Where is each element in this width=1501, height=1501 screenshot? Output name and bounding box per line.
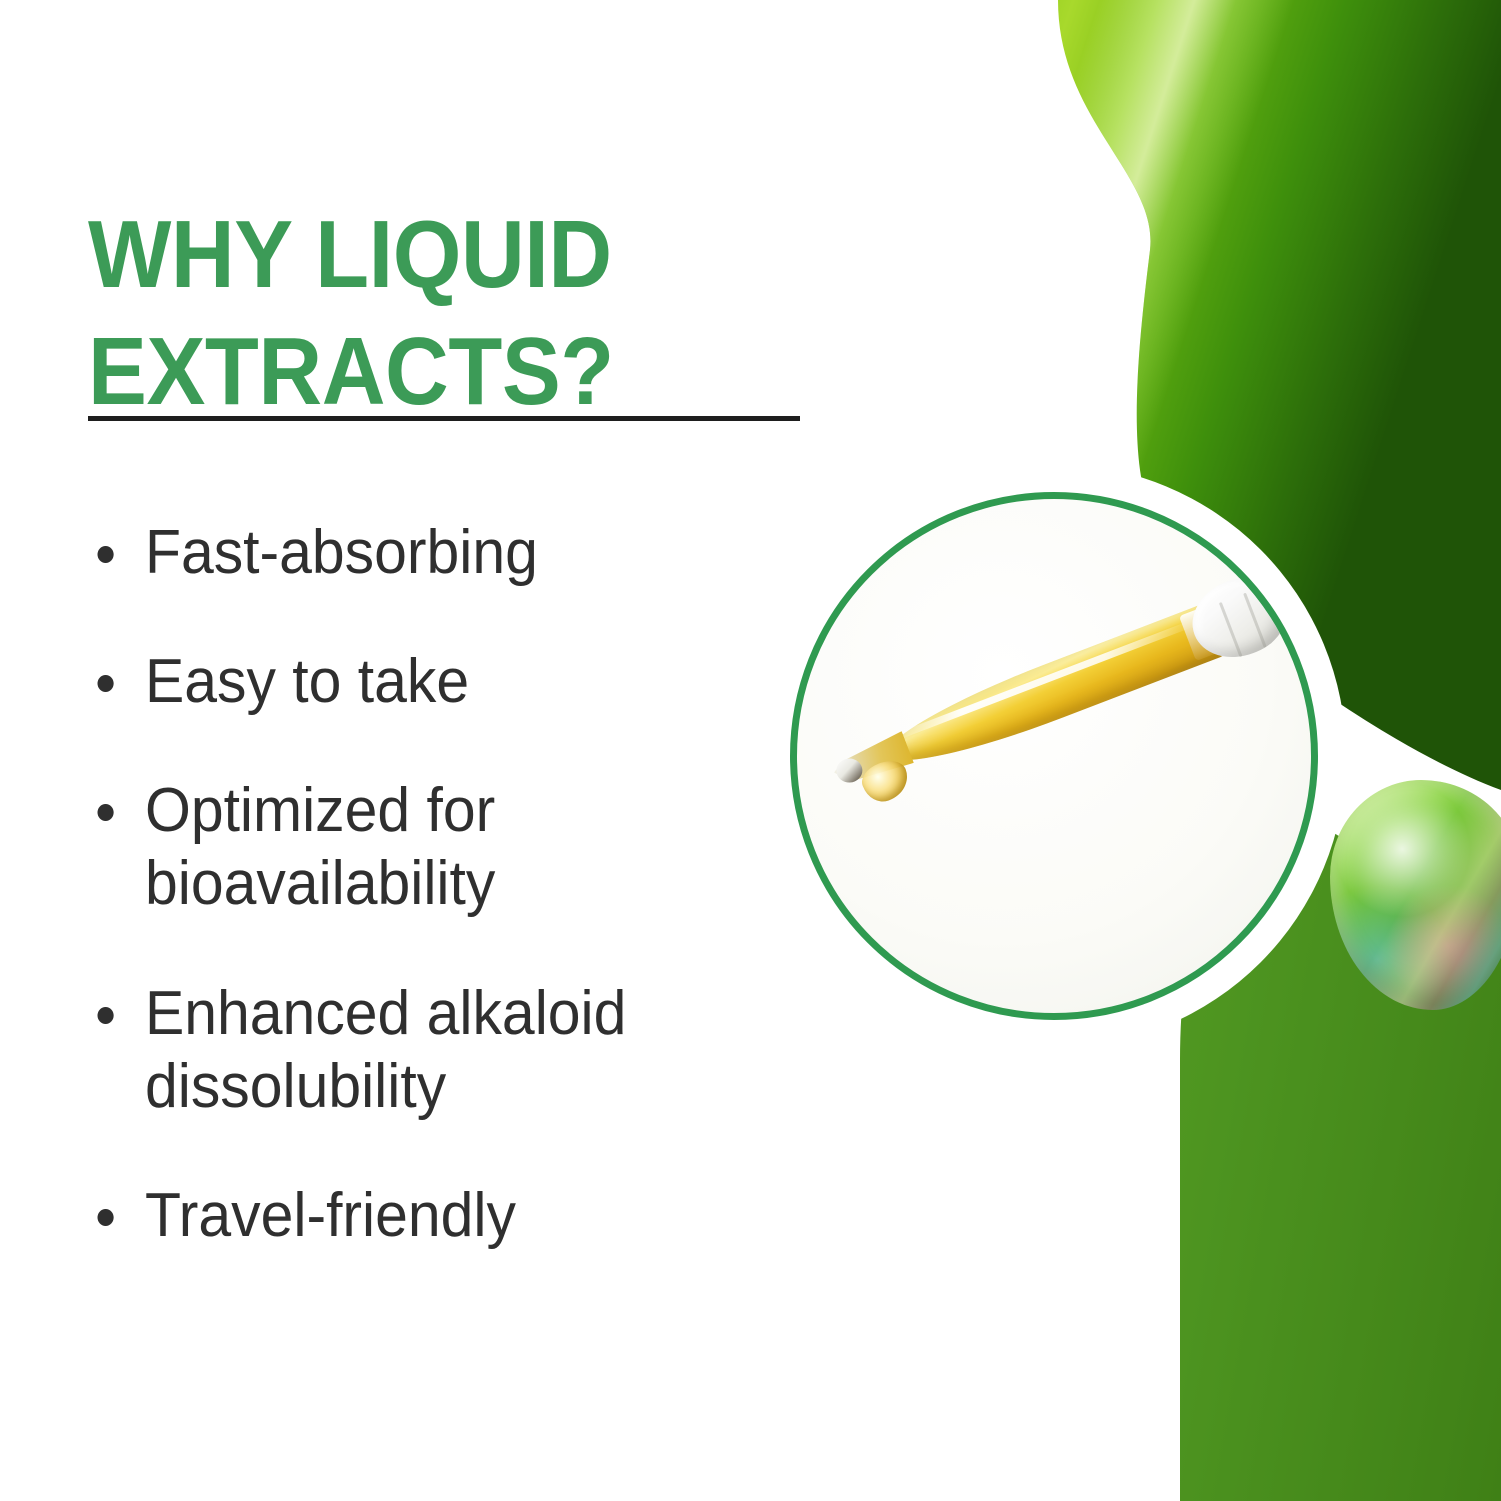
list-item: Easy to take [88, 645, 810, 718]
dropper-circle-inset [790, 492, 1318, 1020]
bullet-dot-icon [98, 1209, 114, 1226]
bullet-dot-icon [98, 1007, 114, 1024]
bullet-dot-icon [98, 804, 114, 821]
list-item: Travel-friendly [88, 1179, 810, 1252]
list-item-label: Fast-absorbing [145, 518, 538, 587]
infographic-canvas: WHY LIQUID EXTRACTS? Fast-absorbing Easy… [0, 0, 1501, 1501]
page-title: WHY LIQUID EXTRACTS? [88, 196, 787, 430]
bullet-dot-icon [98, 675, 114, 692]
title-divider [88, 416, 800, 421]
list-item-label: Travel-friendly [145, 1181, 516, 1250]
bullet-dot-icon [98, 546, 114, 563]
list-item-label: Easy to take [145, 647, 469, 716]
list-item-label: Enhanced alkaloid dissolubility [145, 979, 626, 1121]
circle-plate [790, 492, 1318, 1020]
glass-dropper-icon [824, 599, 1229, 804]
benefits-list: Fast-absorbing Easy to take Optimized fo… [88, 516, 848, 1252]
list-item-label: Optimized for bioavailability [145, 776, 495, 918]
list-item: Enhanced alkaloid dissolubility [88, 977, 810, 1123]
list-item: Fast-absorbing [88, 516, 810, 589]
list-item: Optimized for bioavailability [88, 774, 810, 920]
